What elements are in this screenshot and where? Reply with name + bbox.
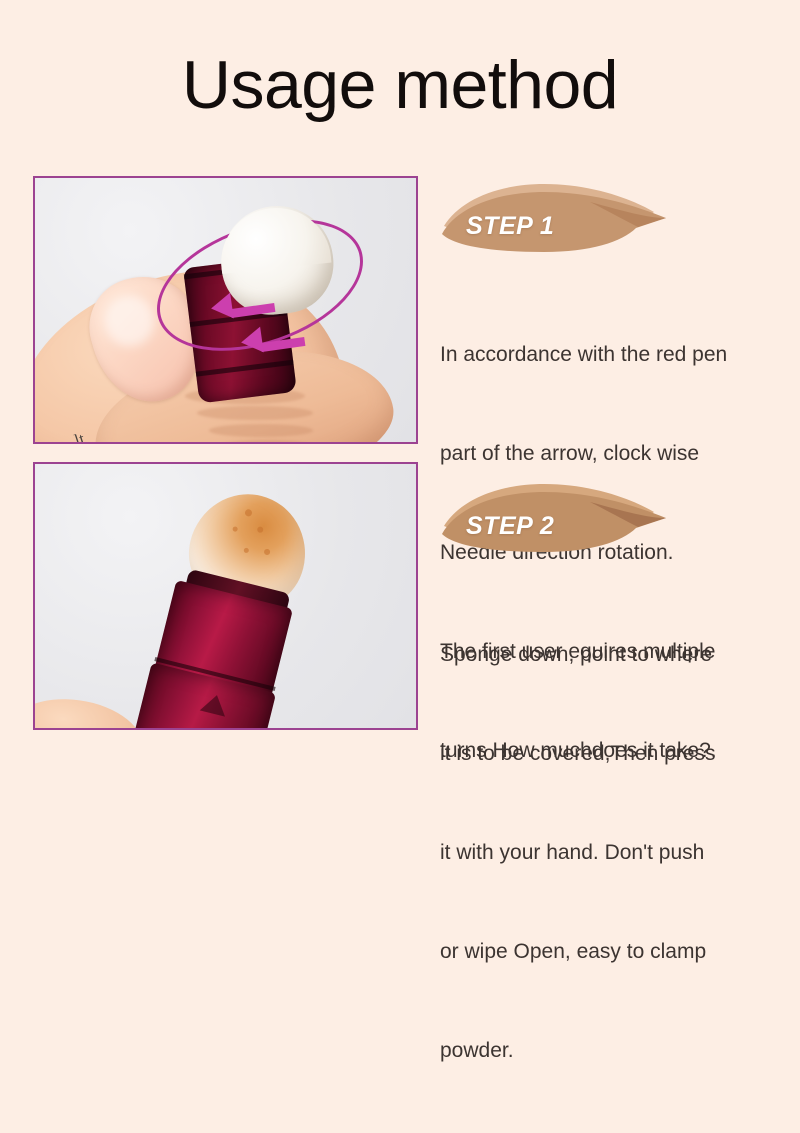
step-1-line: part of the arrow, clock wise bbox=[440, 437, 790, 470]
photo-step-1: lt bbox=[33, 176, 418, 444]
knuckle-crease bbox=[209, 424, 313, 437]
step-2-label: STEP 2 bbox=[466, 512, 554, 541]
photo-step-1-inner: lt bbox=[35, 178, 416, 442]
step-2-line: it is to be covered,Then press bbox=[440, 737, 790, 770]
step-2-body: Sponge down, point to where it is to be … bbox=[440, 572, 790, 1133]
step-2-line: powder. bbox=[440, 1034, 790, 1067]
rotation-arrow-icon bbox=[239, 327, 263, 356]
step-1-smear: STEP 1 bbox=[440, 172, 672, 258]
step-1-label: STEP 1 bbox=[466, 212, 554, 241]
photo-step-2 bbox=[33, 462, 418, 730]
page-title: Usage method bbox=[0, 48, 800, 122]
knuckle-crease bbox=[197, 406, 313, 420]
step-2-line: or wipe Open, easy to clamp bbox=[440, 935, 790, 968]
step-1-line: In accordance with the red pen bbox=[440, 338, 790, 371]
step-2-smear: STEP 2 bbox=[440, 472, 672, 558]
step-2-block: STEP 2 Sponge down, point to where it is… bbox=[440, 472, 790, 1133]
barrel-ring bbox=[196, 360, 294, 377]
photo-step-2-inner bbox=[35, 464, 416, 728]
step-2-line: Sponge down, point to where bbox=[440, 638, 790, 671]
step-2-line: it with your hand. Don't push bbox=[440, 836, 790, 869]
rotation-arrow-icon bbox=[209, 293, 233, 322]
